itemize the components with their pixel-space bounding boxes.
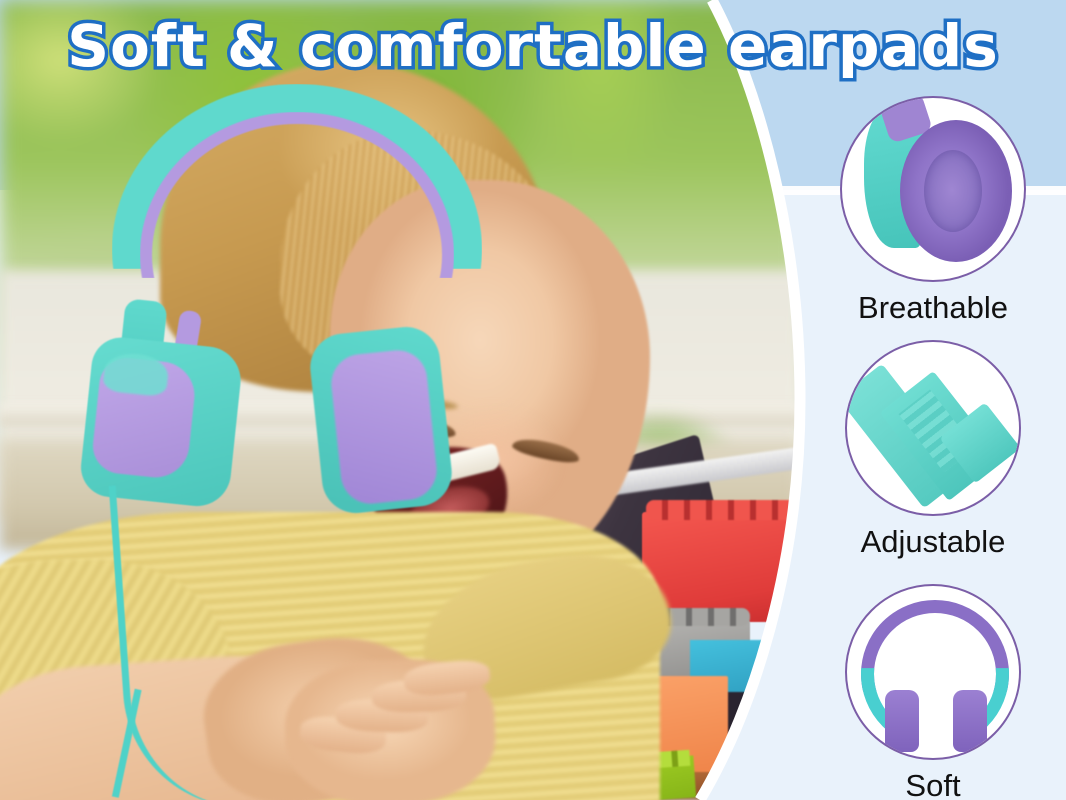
headphones-icon-cup-left (885, 690, 919, 752)
feature-list: Breathable Adjustable Soft (800, 0, 1066, 800)
headband-slider-icon (845, 340, 1021, 516)
feature-label: Breathable (800, 290, 1066, 326)
feature-soft: Soft (800, 584, 1066, 800)
product-poster: Soft & comfortable earpads Breathable Ad… (0, 0, 1066, 800)
page-title: Soft & comfortable earpads (0, 12, 1066, 80)
feature-label: Adjustable (800, 524, 1066, 560)
headphone-earpad-right (328, 347, 439, 506)
earcup-icon-opening (924, 150, 982, 232)
headphones-icon-cup-right (953, 690, 987, 752)
hero-photo-content (0, 0, 830, 800)
feature-label: Soft (800, 768, 1066, 800)
earcup-side-icon (840, 96, 1026, 282)
feature-adjustable: Adjustable (800, 340, 1066, 560)
headphones-icon (845, 584, 1021, 760)
hero-photo (0, 0, 830, 800)
feature-breathable: Breathable (800, 96, 1066, 326)
